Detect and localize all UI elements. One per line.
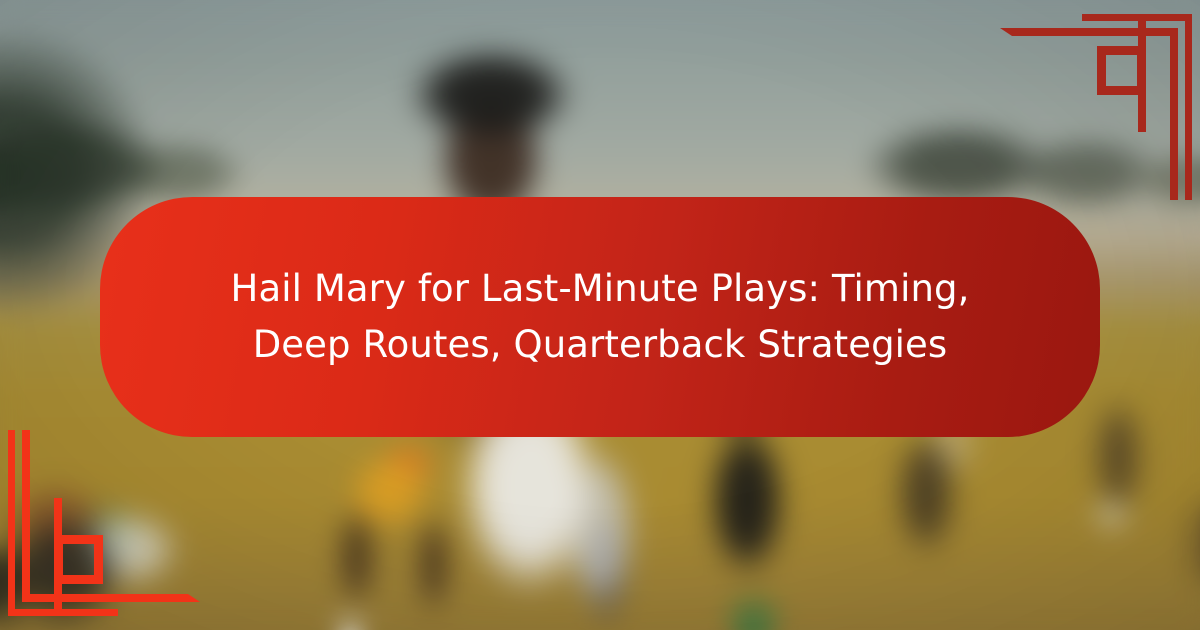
title-banner: Hail Mary for Last-Minute Plays: Timing,… — [100, 197, 1100, 437]
page-title: Hail Mary for Last-Minute Plays: Timing,… — [200, 261, 1000, 373]
share-card: Hail Mary for Last-Minute Plays: Timing,… — [0, 0, 1200, 630]
